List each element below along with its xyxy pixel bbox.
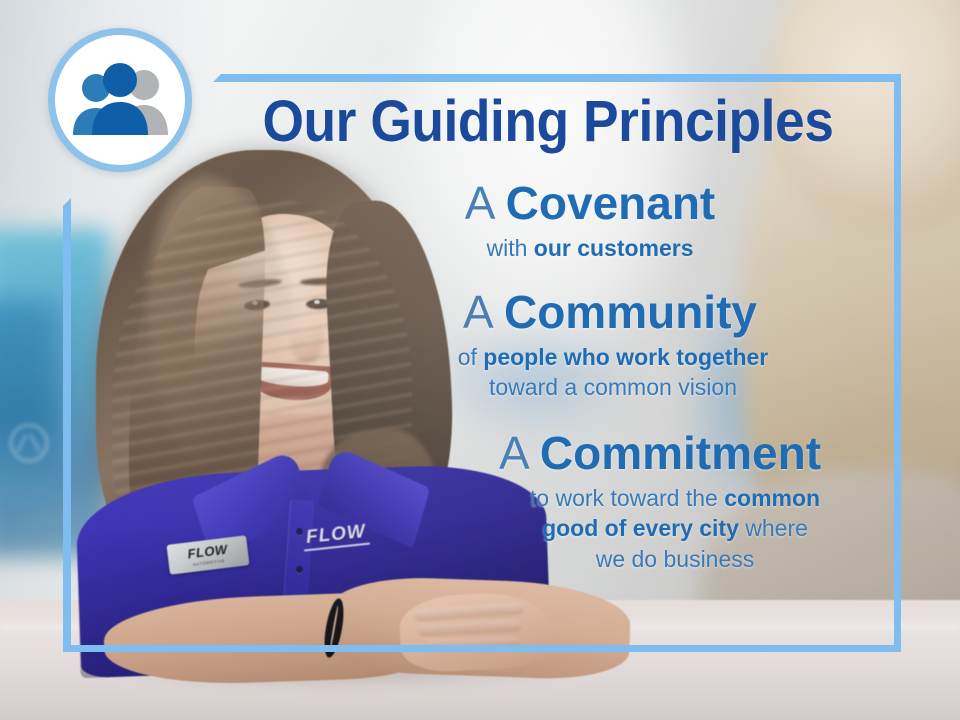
- principle-covenant-article: A: [465, 177, 506, 229]
- principle-commitment-word: Commitment: [540, 427, 821, 479]
- principle-commitment-title: A Commitment: [300, 428, 880, 479]
- principle-commitment-subtitle: to work toward the common good of every …: [300, 483, 880, 574]
- principle-covenant-subtitle: with our customers: [300, 233, 880, 263]
- showroom-car-panel-shadow: [0, 300, 60, 500]
- community-sub-bold: people who work together: [483, 344, 768, 370]
- people-group-icon: [68, 61, 172, 139]
- commitment-sub-line3: we do business: [596, 546, 755, 572]
- community-sub-line2: toward a common vision: [489, 374, 737, 400]
- principle-covenant-title: A Covenant: [300, 178, 880, 229]
- principle-covenant: A Covenant with our customers: [300, 178, 880, 263]
- principle-community-article: A: [463, 286, 504, 338]
- commitment-sub-bold-1: common: [724, 485, 820, 511]
- covenant-sub-bold: our customers: [534, 235, 694, 261]
- vw-logo-blurred: [10, 424, 48, 462]
- covenant-sub-prefix: with: [486, 235, 533, 261]
- principle-covenant-word: Covenant: [506, 177, 716, 229]
- principle-community: A Community of people who work together …: [300, 287, 880, 402]
- commitment-sub-prefix: to work toward the: [530, 485, 724, 511]
- principle-community-subtitle: of people who work together toward a com…: [300, 342, 880, 403]
- principle-community-title: A Community: [300, 287, 880, 338]
- page-title: Our Guiding Principles: [244, 92, 851, 152]
- principles-list: A Covenant with our customers A Communit…: [300, 178, 880, 580]
- commitment-sub-suffix: where: [739, 515, 808, 541]
- principle-commitment: A Commitment to work toward the common g…: [300, 428, 880, 574]
- community-sub-prefix: of: [458, 344, 484, 370]
- people-group-icon-badge: [48, 28, 192, 172]
- guiding-principles-graphic: FLOW AUTOMOTIVE FLOW: [0, 0, 960, 720]
- commitment-sub-bold-2: good of every city: [542, 515, 739, 541]
- person-center-head: [103, 63, 137, 97]
- principle-commitment-article: A: [499, 427, 540, 479]
- principle-community-word: Community: [504, 286, 757, 338]
